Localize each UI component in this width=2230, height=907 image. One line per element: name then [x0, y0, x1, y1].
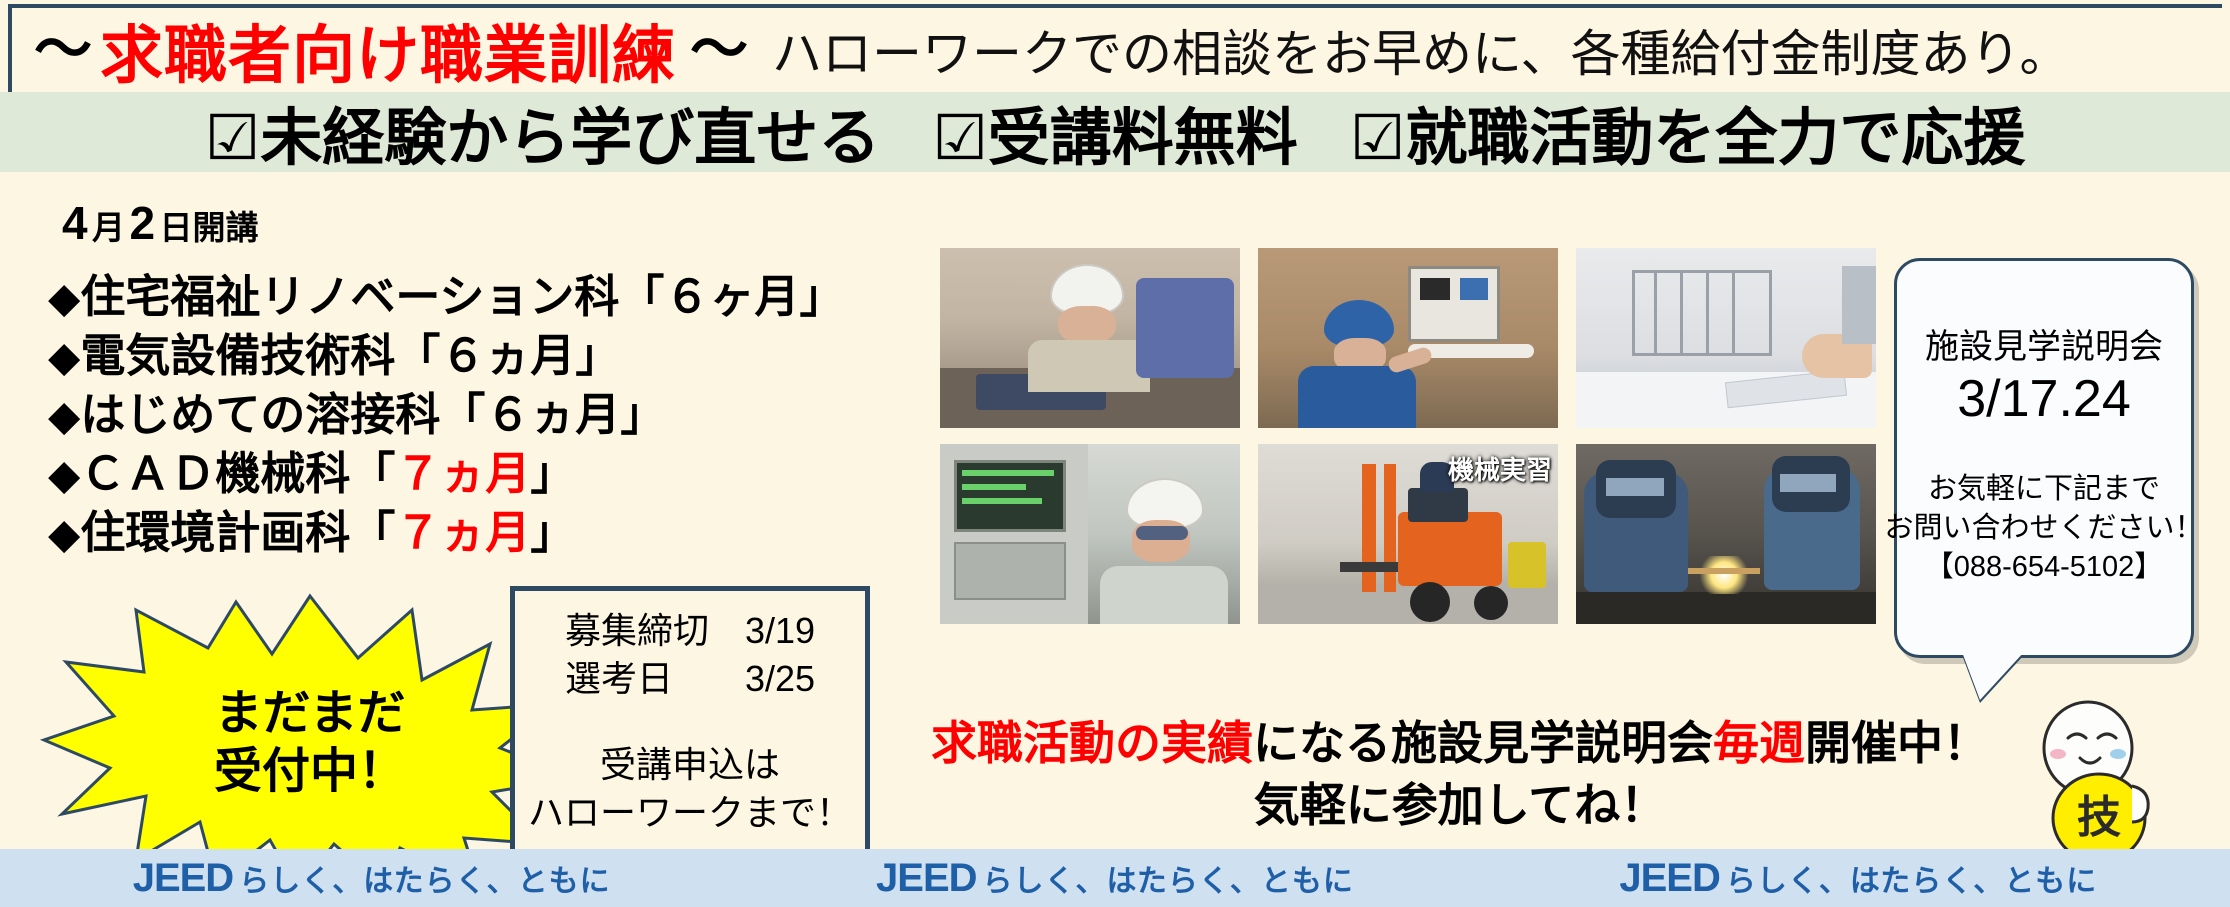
start-day-unit: 日開講: [160, 209, 259, 246]
forklift-body: [1398, 512, 1502, 586]
deadline-info-box: 募集締切 3/19 選考日 3/25 受講申込は ハローワークまで！: [510, 586, 870, 854]
start-month-unit: 月: [92, 209, 125, 246]
course-bracket-open: 「: [350, 507, 395, 558]
panel-display: [1420, 278, 1450, 300]
tilde-right-icon: ～: [690, 21, 748, 79]
photo-rebar-measurement-training: [1576, 248, 1876, 428]
message-text-2: 開催中！: [1805, 717, 1989, 769]
jeed-mascot: 技: [2024, 700, 2174, 870]
welding-bench: [1576, 592, 1876, 624]
jeed-slogan: らしく、はたらく、ともに: [239, 856, 610, 900]
footer-item: JEED らしく、はたらく、ともに: [876, 856, 1354, 901]
benefit-item-3: ☑就職活動を全力で応援: [1350, 87, 2026, 177]
training-ad-banner: ～ 求職者向け職業訓練 ～ ハローワークでの相談をお早めに、各種給付金制度あり。…: [0, 0, 2230, 907]
course-duration: ６ヶ月: [664, 271, 799, 322]
rebar-bar: [1680, 270, 1683, 356]
mascot-badge-char: 技: [2077, 792, 2121, 843]
course-duration: ７ヵ月: [395, 507, 530, 558]
start-day-number: 2: [130, 197, 156, 249]
jeed-slogan: らしく、はたらく、ともに: [1726, 856, 2097, 900]
open-house-message: 求職活動の実績になる施設見学説明会毎週開催中！ 気軽に参加してね！: [880, 712, 2040, 836]
course-name: ＣＡＤ機械科: [80, 448, 350, 499]
benefit-item-1: ☑未経験から学び直せる: [205, 87, 881, 177]
course-duration: ６ヵ月: [440, 330, 575, 381]
contact-note-line-2: お問い合わせください！: [1885, 509, 2204, 548]
jeed-footer-band: JEED らしく、はたらく、ともに JEED らしく、はたらく、ともに JEED…: [0, 849, 2230, 907]
photo-forklift-training: 機械実習: [1258, 444, 1558, 624]
diamond-bullet-icon: ◆: [48, 333, 80, 380]
background-equipment: [1842, 266, 1876, 344]
course-bracket-open: 「: [440, 389, 485, 440]
course-bracket-open: 「: [395, 330, 440, 381]
course-duration: ７ヵ月: [395, 448, 530, 499]
message-line-1: 求職活動の実績になる施設見学説明会毎週開催中！: [880, 712, 2040, 774]
course-row: ◆はじめての溶接科「６ヵ月」: [48, 386, 844, 445]
panel-switch: [1460, 278, 1488, 300]
diamond-bullet-icon: ◆: [48, 392, 80, 439]
course-name: はじめての溶接科: [80, 389, 440, 440]
forklift-wheel: [1410, 582, 1450, 622]
message-highlight-activity-record: 求職活動の実績: [931, 717, 1253, 769]
screen-line: [962, 470, 1054, 476]
work-uniform: [1100, 566, 1228, 624]
contact-note-line-1: お気軽に下記まで: [1928, 470, 2160, 509]
still-accepting-starburst: まだまだ 受付中！: [40, 592, 580, 892]
photo-cnc-machine-training: [940, 444, 1240, 624]
course-bracket-open: 「: [619, 271, 664, 322]
course-row: ◆住宅福祉リノベーション科「６ヶ月」: [48, 268, 844, 327]
course-row: ◆ＣＡＤ機械科「７ヵ月」: [48, 445, 844, 504]
start-month-number: 4: [62, 197, 88, 249]
control-keypad: [954, 542, 1066, 600]
helmet-visor: [1606, 478, 1664, 496]
diamond-bullet-icon: ◆: [48, 510, 80, 557]
photo-carpentry-training: [940, 248, 1240, 428]
jeed-slogan: らしく、はたらく、ともに: [983, 856, 1354, 900]
header-line-1: ～ 求職者向け職業訓練 ～ ハローワークでの相談をお早めに、各種給付金制度あり。: [8, 4, 2222, 92]
tilde-left-icon: ～: [34, 21, 92, 79]
contact-phone-number: 【088-654-5102】: [1925, 548, 2164, 587]
photo-grid: 機械実習: [940, 248, 1876, 624]
course-list: ◆住宅福祉リノベーション科「６ヶ月」 ◆電気設備技術科「６ヵ月」 ◆はじめての溶…: [48, 268, 844, 563]
photo-welding-training: [1576, 444, 1876, 624]
diamond-bullet-icon: ◆: [48, 451, 80, 498]
course-duration: ６ヵ月: [485, 389, 620, 440]
photo-electrical-panel-training: [1258, 248, 1558, 428]
blue-uniform: [1298, 366, 1416, 428]
footer-item: JEED らしく、はたらく、ともに: [1619, 856, 2097, 901]
benefit-item-2: ☑受講料無料: [932, 87, 1298, 177]
welding-rod: [1688, 568, 1760, 574]
forklift-wheel: [1474, 586, 1508, 620]
work-uniform: [1028, 340, 1150, 392]
course-row: ◆電気設備技術科「６ヵ月」: [48, 327, 844, 386]
course-bracket-close: 」: [799, 271, 844, 322]
open-house-dates: 3/17.24: [1957, 368, 2131, 430]
header-subtitle: ハローワークでの相談をお早めに、各種給付金制度あり。: [772, 14, 2070, 86]
jeed-logo-text: JEED: [876, 856, 977, 901]
forklift-mast: [1362, 464, 1376, 592]
diamond-bullet-icon: ◆: [48, 274, 80, 321]
apply-instruction-line-1: 受講申込は: [600, 741, 780, 789]
forklift-mast: [1384, 464, 1396, 592]
operator-seat-area: [1408, 488, 1468, 522]
jeed-logo-text: JEED: [1619, 856, 1720, 901]
start-date: 4 月 2 日開講: [62, 196, 259, 250]
footer-item: JEED らしく、はたらく、ともに: [133, 856, 611, 901]
course-bracket-close: 」: [530, 448, 575, 499]
safety-glasses: [1136, 526, 1188, 540]
speech-bubble-tail-icon: [1962, 652, 2024, 700]
application-deadline: 募集締切 3/19: [565, 607, 815, 655]
screen-line: [962, 484, 1026, 490]
rebar-bar: [1654, 270, 1657, 356]
screen-line: [962, 498, 1042, 504]
rebar-cage: [1632, 270, 1772, 356]
jeed-logo-text: JEED: [133, 856, 234, 901]
course-name: 電気設備技術科: [80, 330, 395, 381]
open-house-title: 施設見学説明会: [1925, 319, 2163, 368]
selection-date: 選考日 3/25: [565, 655, 815, 703]
course-bracket-open: 「: [350, 448, 395, 499]
welding-arc-spark: [1696, 556, 1752, 594]
helmet-visor: [1780, 474, 1836, 492]
course-bracket-close: 」: [575, 330, 620, 381]
open-house-speech-bubble: 施設見学説明会 3/17.24 お気軽に下記まで お問い合わせください！ 【08…: [1894, 258, 2194, 658]
floor: [1258, 584, 1558, 624]
course-bracket-close: 」: [530, 507, 575, 558]
message-highlight-weekly: 毎週: [1713, 717, 1805, 769]
course-name: 住環境計画科: [80, 507, 350, 558]
rebar-bar: [1706, 270, 1709, 356]
course-name: 住宅福祉リノベーション科: [80, 271, 619, 322]
course-row: ◆住環境計画科「７ヵ月」: [48, 504, 844, 563]
header-title-red: 求職者向け職業訓練: [100, 5, 676, 93]
rebar-bar: [1732, 270, 1735, 356]
apply-instruction-line-2: ハローワークまで！: [528, 789, 852, 837]
starburst-shape-icon: [40, 592, 580, 892]
message-text-1: になる施設見学説明会: [1253, 717, 1713, 769]
benefits-band: ☑未経験から学び直せる ☑受講料無料 ☑就職活動を全力で応援: [0, 92, 2230, 172]
background-figure: [1136, 278, 1234, 378]
message-line-2: 気軽に参加してね！: [880, 774, 2040, 836]
photo-label-machinery-practice: 機械実習: [1448, 450, 1552, 487]
yellow-drum: [1508, 542, 1546, 588]
course-bracket-close: 」: [620, 389, 665, 440]
mascot-character-icon: 技: [2024, 700, 2174, 870]
